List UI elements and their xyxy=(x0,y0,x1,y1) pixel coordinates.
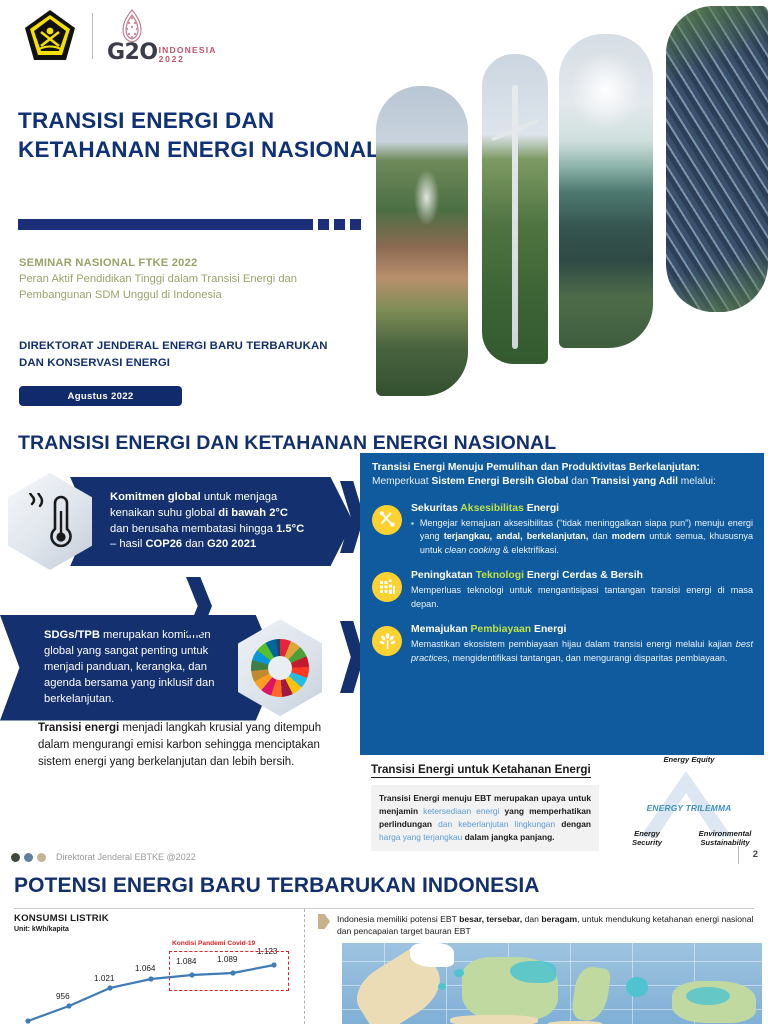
footer-dot-2 xyxy=(24,853,33,862)
logo-group: G2O INDONESIA 2022 xyxy=(22,8,217,64)
panel-heading-2e: melalui: xyxy=(678,476,716,487)
commitment-bold-9: G20 2021 xyxy=(207,538,256,550)
trilemma-center-label: ENERGY TRILEMMA xyxy=(624,803,754,814)
commitment-text: Komitmen global untuk menjaga kenaikan s… xyxy=(70,477,353,567)
pillar-bullet-text: Mengejar kemajuan aksesibilitas (“tidak … xyxy=(420,517,753,557)
pillar-item: Peningkatan Teknologi Energi Cerdas & Be… xyxy=(372,570,753,611)
commitment-text-8: dan xyxy=(182,538,207,550)
decorative-rule xyxy=(18,219,361,230)
slide-potensi-ebt: POTENSI ENERGI BARU TERBARUKAN INDONESIA… xyxy=(0,869,768,1024)
department-line-2: DAN KONSERVASI ENERGI xyxy=(19,355,379,372)
sdg-color-wheel xyxy=(251,639,309,697)
commitment-bold-7: COP26 xyxy=(145,538,182,550)
ketahanan-section-title: Transisi Energi untuk Ketahanan Energi xyxy=(371,763,591,778)
seminar-theme-line-1: Peran Aktif Pendidikan Tinggi dalam Tran… xyxy=(19,271,389,287)
pillar-title: Peningkatan Teknologi Energi Cerdas & Be… xyxy=(411,570,753,581)
pillar-bullet: ▪ Mengejar kemajuan aksesibilitas (“tida… xyxy=(411,517,753,557)
page-number: 2 xyxy=(753,849,758,860)
wind-turbine-photo xyxy=(482,54,548,364)
pillar-body-text: Memastikan ekosistem pembiayaan hijau da… xyxy=(411,638,753,665)
slide3-column-divider xyxy=(304,909,305,1024)
slide-title: G2O INDONESIA 2022 TRANSISI ENERGI DAN K… xyxy=(0,0,768,425)
seminar-theme-line-2: Pembangunan SDM Unggul di Indonesia xyxy=(19,287,389,303)
trilemma-label-equity: Energy Equity xyxy=(646,755,732,764)
rule-segment-2 xyxy=(334,219,345,230)
ebt-potential-bullet: Indonesia memiliki potensi EBT besar, te… xyxy=(318,913,763,938)
page-title: TRANSISI ENERGI DAN KETAHANAN ENERGI NAS… xyxy=(18,107,388,165)
panel-heading-line-1: Transisi Energi Menuju Pemulihan dan Pro… xyxy=(372,462,700,473)
department-name: DIREKTORAT JENDERAL ENERGI BARU TERBARUK… xyxy=(19,338,379,372)
logo-divider xyxy=(92,13,93,59)
title-line-2: KETAHANAN ENERGI NASIONAL xyxy=(18,136,388,165)
p1-t1: terjangkau, andal, berkelanjutan, xyxy=(444,531,589,541)
konsumsi-listrik-chart: KONSUMSI LISTRIK Unit: kWh/kapita Kondis… xyxy=(14,913,304,1024)
slide3-title: POTENSI ENERGI BARU TERBARUKAN INDONESIA xyxy=(14,874,540,898)
slide3-divider xyxy=(14,908,754,909)
chart-plot-area: Kondisi Pandemi Covid-19 910 956 1.021 1… xyxy=(14,939,304,1024)
geothermal-power-plant-photo xyxy=(559,34,653,348)
footer-dots xyxy=(11,853,46,862)
ket-t6: dalam jangka panjang. xyxy=(462,832,554,842)
p1-t6: & elektrifikasi. xyxy=(500,545,559,555)
panel-heading-2a: Memperkuat xyxy=(372,476,431,487)
p3-t0: Memastikan ekosistem pembiayaan hijau da… xyxy=(411,639,736,649)
tools-icon xyxy=(372,505,402,535)
transition-pillars-panel: Transisi Energi Menuju Pemulihan dan Pro… xyxy=(360,453,764,755)
pillar-item: Memajukan Pembiayaan Energi Memastikan e… xyxy=(372,624,753,665)
chart-annotation-label: Kondisi Pandemi Covid-19 xyxy=(172,940,255,947)
pillar-title-a: Memajukan xyxy=(411,624,470,635)
energy-trilemma-diagram: Energy Equity ENERGY TRILEMMA Energy Sec… xyxy=(610,755,768,851)
p1-t3: modern xyxy=(612,531,645,541)
hero-image-collage xyxy=(376,0,768,408)
seminar-info: SEMINAR NASIONAL FTKE 2022 Peran Aktif P… xyxy=(19,255,389,304)
chart-annotation-box xyxy=(169,951,289,991)
rule-segment-1 xyxy=(318,219,329,230)
panel-heading-2c: dan xyxy=(568,476,591,487)
bullet-dot-icon: ▪ xyxy=(411,517,414,557)
g20-wordmark-text: G2O xyxy=(107,42,158,64)
footer-text: Direktorat Jenderal EBTKE @2022 xyxy=(56,852,196,862)
chart-label-1: 956 xyxy=(56,992,70,1001)
pillar-title-b: Energi xyxy=(524,503,559,514)
pillar-title-highlight: Teknologi xyxy=(476,570,524,581)
ket-t3: dan keberlanjutan lingkungan xyxy=(438,819,555,829)
slide-transisi-energi: TRANSISI ENERGI DAN KETAHANAN ENERGI NAS… xyxy=(0,425,768,865)
pillar-body-text: Memperluas teknologi untuk mengantisipas… xyxy=(411,584,753,611)
g20-indonesia-logo-icon: G2O INDONESIA 2022 xyxy=(107,8,217,64)
g20-year-label: 2022 xyxy=(159,55,217,64)
p1-t2: dan xyxy=(588,531,611,541)
rule-segment-3 xyxy=(350,219,361,230)
ket-t5: harga yang terjangkau xyxy=(379,832,462,842)
footer-dot-1 xyxy=(11,853,20,862)
footer-dot-3 xyxy=(37,853,46,862)
biomass-power-plant-photo xyxy=(376,86,468,396)
pillar-title: Memajukan Pembiayaan Energi xyxy=(411,624,753,635)
s3-p2: dan xyxy=(522,914,541,924)
footer-divider xyxy=(738,846,739,864)
panel-heading: Transisi Energi Menuju Pemulihan dan Pro… xyxy=(372,461,753,490)
slide2-title: TRANSISI ENERGI DAN KETAHANAN ENERGI NAS… xyxy=(18,432,556,455)
indonesia-potential-map xyxy=(342,943,762,1024)
pillar-title-a: Peningkatan xyxy=(411,570,476,581)
rule-segment-long xyxy=(18,219,313,230)
pillar-title: Sekuritas Aksesibilitas Energi xyxy=(411,503,753,514)
ebt-potential-text: Indonesia memiliki potensi EBT besar, te… xyxy=(337,913,763,938)
g20-batik-icon xyxy=(111,8,153,44)
ket-t1: ketersediaan energi xyxy=(423,806,499,816)
pillar-title-a: Sekuritas xyxy=(411,503,460,514)
commitment-text-6: – hasil xyxy=(110,538,145,550)
chart-label-3: 1.064 xyxy=(135,964,156,973)
map-highpotential-kalimantan xyxy=(510,961,556,983)
sdg-text: SDGs/TPB merupakan komitmen global yang … xyxy=(0,615,278,721)
s3-b2: beragam xyxy=(541,914,577,924)
ketahanan-description: Transisi Energi menuju EBT merupakan upa… xyxy=(371,785,599,851)
solar-panel-farm-photo xyxy=(666,6,768,312)
s3-p1: Indonesia memiliki potensi EBT xyxy=(337,914,459,924)
slide-footer: Direktorat Jenderal EBTKE @2022 2 xyxy=(0,845,768,869)
pillar-title-highlight: Aksesibilitas xyxy=(460,503,524,514)
map-island-jawa xyxy=(450,1015,538,1024)
commitment-bold-3: di bawah 2°C xyxy=(218,507,288,519)
map-landmass-malaysia xyxy=(410,943,454,967)
map-island-small-1 xyxy=(454,969,464,977)
title-line-1: TRANSISI ENERGI DAN xyxy=(18,107,388,136)
chart-subtitle: Unit: kWh/kapita xyxy=(14,926,304,933)
commitment-bold-1: Komitmen global xyxy=(110,491,201,503)
plant-growth-icon xyxy=(372,626,402,656)
sdg-card: SDGs/TPB merupakan komitmen global yang … xyxy=(0,615,355,721)
p1-t5: clean cooking xyxy=(445,545,501,555)
date-badge: Agustus 2022 xyxy=(19,386,182,406)
slide3-right-column: Indonesia memiliki potensi EBT besar, te… xyxy=(318,913,763,1024)
sdg-bold-1: SDGs/TPB xyxy=(44,629,100,641)
pillar-title-b: Energi Cerdas & Bersih xyxy=(524,570,643,581)
department-line-1: DIREKTORAT JENDERAL ENERGI BARU TERBARUK… xyxy=(19,338,379,355)
seminar-name: SEMINAR NASIONAL FTKE 2022 xyxy=(19,255,389,271)
technology-chip-icon xyxy=(372,572,402,602)
chart-label-2: 1.021 xyxy=(94,974,115,983)
pillar-title-b: Energi xyxy=(531,624,566,635)
p3-t2: , mengidentifikasi tantangan, dan mengur… xyxy=(447,653,727,663)
transisi-energi-paragraph: Transisi energi menjadi langkah krusial … xyxy=(38,720,353,770)
map-island-small-2 xyxy=(438,983,446,990)
ket-t4: dengan xyxy=(555,819,591,829)
map-island-maluku xyxy=(626,977,648,997)
ministry-esdm-logo-icon xyxy=(22,8,78,64)
pillar-item: Sekuritas Aksesibilitas Energi ▪ Mengeja… xyxy=(372,503,753,557)
paragraph-bold: Transisi energi xyxy=(38,722,119,734)
pillar-title-highlight: Pembiayaan xyxy=(470,624,531,635)
panel-heading-2b: Sistem Energi Bersih Global xyxy=(431,476,568,487)
chart-title: KONSUMSI LISTRIK xyxy=(14,913,304,924)
bullet-marker-icon xyxy=(318,914,330,929)
commitment-bold-5: 1.5°C xyxy=(276,523,304,535)
s3-b1: besar, tersebar, xyxy=(459,914,522,924)
commitment-card: Komitmen global untuk menjaga kenaikan s… xyxy=(8,473,353,570)
map-highpotential-papua xyxy=(686,987,730,1005)
commitment-text-4: dan berusaha membatasi hingga xyxy=(110,523,276,535)
panel-heading-2d: Transisi yang Adil xyxy=(591,476,678,487)
